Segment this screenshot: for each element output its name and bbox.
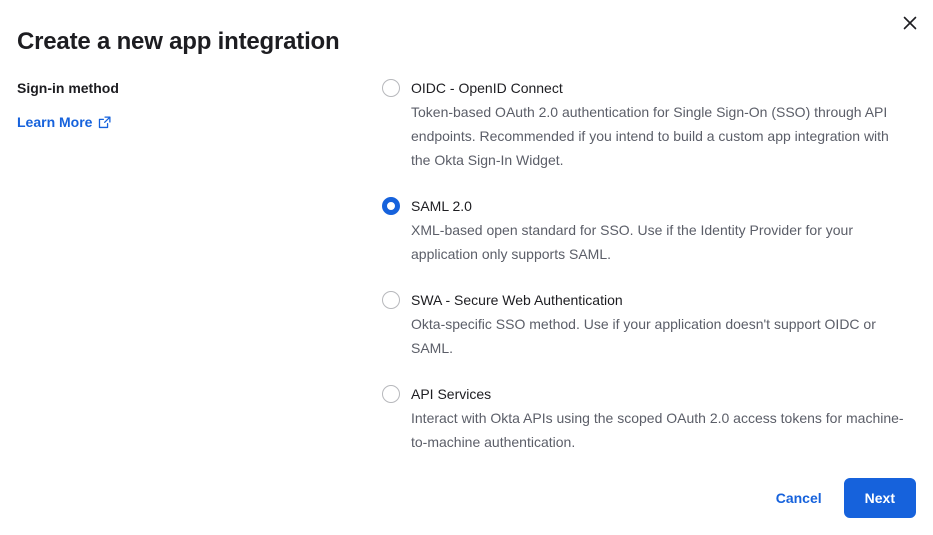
learn-more-label: Learn More bbox=[17, 112, 92, 132]
learn-more-link[interactable]: Learn More bbox=[17, 112, 111, 132]
close-button[interactable] bbox=[895, 8, 925, 38]
radio-indicator-swa[interactable] bbox=[382, 291, 400, 309]
radio-option-api-services[interactable]: API Services Interact with Okta APIs usi… bbox=[382, 384, 912, 454]
create-app-integration-dialog: Create a new app integration Sign-in met… bbox=[0, 0, 933, 535]
external-link-icon bbox=[98, 116, 111, 129]
radio-description-oidc: Token-based OAuth 2.0 authentication for… bbox=[411, 100, 911, 172]
close-icon bbox=[903, 16, 917, 30]
radio-description-swa: Okta-specific SSO method. Use if your ap… bbox=[411, 312, 911, 360]
radio-option-swa[interactable]: SWA - Secure Web Authentication Okta-spe… bbox=[382, 290, 912, 360]
radio-description-saml: XML-based open standard for SSO. Use if … bbox=[411, 218, 911, 266]
radio-indicator-oidc[interactable] bbox=[382, 79, 400, 97]
radio-indicator-saml[interactable] bbox=[382, 197, 400, 215]
radio-description-api-services: Interact with Okta APIs using the scoped… bbox=[411, 406, 911, 454]
sign-in-method-radio-group: OIDC - OpenID Connect Token-based OAuth … bbox=[382, 78, 912, 454]
radio-label-oidc: OIDC - OpenID Connect bbox=[411, 78, 912, 98]
radio-indicator-api-services[interactable] bbox=[382, 385, 400, 403]
sign-in-method-column: Sign-in method Learn More bbox=[17, 78, 357, 132]
radio-option-oidc[interactable]: OIDC - OpenID Connect Token-based OAuth … bbox=[382, 78, 912, 172]
sign-in-method-label: Sign-in method bbox=[17, 78, 357, 98]
cancel-button[interactable]: Cancel bbox=[770, 480, 828, 516]
radio-label-swa: SWA - Secure Web Authentication bbox=[411, 290, 912, 310]
page-title: Create a new app integration bbox=[17, 26, 339, 57]
next-button[interactable]: Next bbox=[844, 478, 916, 518]
radio-label-api-services: API Services bbox=[411, 384, 912, 404]
radio-option-saml[interactable]: SAML 2.0 XML-based open standard for SSO… bbox=[382, 196, 912, 266]
dialog-footer: Cancel Next bbox=[770, 478, 916, 518]
radio-label-saml: SAML 2.0 bbox=[411, 196, 912, 216]
